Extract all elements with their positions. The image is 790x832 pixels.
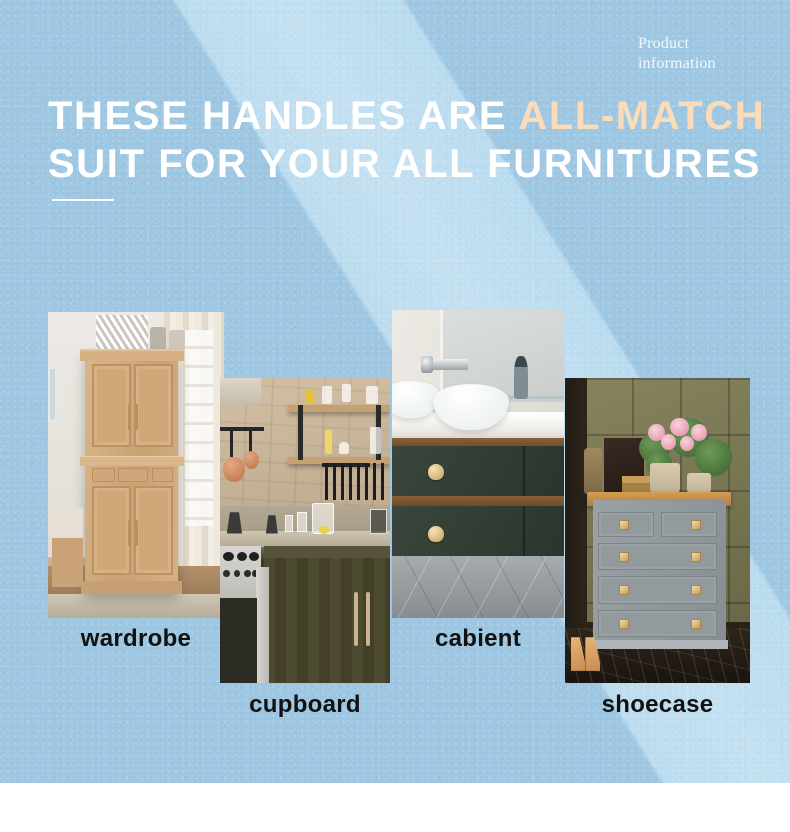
cupboard-knife-set (325, 463, 386, 500)
cupboard-jar-1 (305, 389, 314, 404)
wardrobe-scene (48, 312, 224, 618)
shoecase-rose-4 (661, 434, 676, 449)
wardrobe-door-panel-1 (92, 364, 131, 447)
eyebrow-label: Product information (638, 34, 748, 74)
product-caption-cabient: cabient (392, 625, 564, 653)
cupboard-range-hood (220, 378, 261, 405)
cabient-brass-knob-1 (428, 464, 443, 480)
wardrobe-small-panel-1 (92, 468, 115, 482)
shoecase-foliage-3 (695, 439, 732, 476)
cupboard-glass-2 (297, 512, 307, 532)
wardrobe-door-panel-2 (134, 364, 173, 447)
product-photo-shoecase (565, 378, 750, 683)
cupboard-island-front (220, 598, 257, 683)
cupboard-scene (220, 378, 390, 683)
product-photo-wardrobe (48, 312, 224, 618)
product-caption-wardrobe: wardrobe (48, 625, 224, 653)
cupboard-fridge (256, 567, 270, 683)
headline-divider-rule (52, 199, 114, 201)
cupboard-shelf-upper (288, 405, 390, 412)
headline: THESE HANDLES ARE ALL-MATCH SUIT FOR YOU… (48, 92, 748, 188)
cupboard-oil-bottle (325, 430, 332, 454)
cabient-drawer-front-1 (392, 446, 564, 498)
product-photo-cabient (392, 310, 564, 618)
wardrobe-door-panel-3 (92, 486, 131, 575)
wardrobe-decor-mirror (96, 315, 149, 352)
headline-line-1-plain: THESE HANDLES ARE (48, 94, 518, 138)
cupboard-hanging-rail (220, 427, 264, 431)
shoecase-square-knob-5 (619, 585, 629, 595)
shoecase-square-knob-2 (691, 520, 701, 530)
wardrobe-plinth (81, 581, 181, 593)
wardrobe-wall-art (48, 367, 57, 422)
headline-line-1: THESE HANDLES ARE ALL-MATCH (48, 92, 748, 140)
cupboard-jar-4 (366, 386, 378, 404)
cupboard-burner-1 (223, 552, 233, 561)
wardrobe-cabinet-cornice (80, 349, 184, 361)
product-card-shoecase: shoecase (565, 378, 750, 719)
cupboard-bar-handle-1 (354, 592, 358, 647)
wardrobe-handle-2 (135, 404, 138, 430)
cupboard-jar-3 (342, 384, 351, 402)
headline-line-2: SUIT FOR YOUR ALL FURNITURES (48, 140, 748, 188)
shoecase-plinth (591, 640, 728, 650)
shoecase-rose-2 (670, 418, 689, 436)
cupboard-glass-1 (285, 515, 294, 532)
bottom-white-strip (0, 783, 790, 832)
shoecase-square-knob-8 (691, 619, 701, 629)
cupboard-countertop (220, 531, 390, 548)
product-information-banner: Product information THESE HANDLES ARE AL… (0, 0, 790, 783)
wardrobe-stool (52, 508, 84, 588)
cabient-drawer-split-2 (523, 506, 525, 558)
cupboard-burner-3 (249, 552, 259, 561)
wardrobe-door-panel-4 (134, 486, 173, 575)
wardrobe-mid-rail (80, 456, 184, 466)
product-photo-cupboard (220, 378, 390, 683)
shoecase-square-knob-7 (619, 619, 629, 629)
shoecase-square-knob-3 (619, 552, 629, 562)
shoecase-dark-left-wall (565, 378, 587, 634)
cabient-scene (392, 310, 564, 618)
wardrobe-rug (48, 594, 224, 618)
wardrobe-handle-4 (135, 520, 138, 546)
cupboard-cabinet-fronts (264, 546, 390, 683)
shoecase-plant-pot-1 (650, 463, 680, 494)
eyebrow-line-1: Product (638, 34, 748, 54)
wardrobe-small-panel-2 (118, 468, 148, 482)
cupboard-jar-5 (370, 427, 382, 454)
shoecase-drawer-2 (661, 512, 717, 536)
cupboard-hook-1 (230, 430, 233, 457)
shoecase-square-knob-4 (691, 552, 701, 562)
cabient-brass-knob-2 (428, 526, 443, 542)
cupboard-butter-dish (339, 442, 349, 454)
cupboard-bar-handle-2 (366, 592, 370, 647)
cabient-bottle (514, 356, 528, 399)
shoecase-urn (584, 448, 603, 494)
shoecase-rose-3 (691, 424, 708, 441)
shoecase-square-knob-1 (619, 520, 629, 530)
product-card-wardrobe: wardrobe (48, 312, 224, 653)
cupboard-shelf-bracket-1 (298, 405, 303, 460)
cabient-drawer-split-1 (523, 446, 525, 498)
cabient-drawer-front-2 (392, 506, 564, 558)
cupboard-lemon (319, 526, 329, 534)
product-card-cupboard: cupboard (220, 378, 390, 719)
product-caption-cupboard: cupboard (220, 691, 390, 719)
wardrobe-handle-1 (128, 404, 131, 430)
cupboard-appliance (370, 509, 387, 533)
cupboard-stove-knob-3 (244, 570, 251, 577)
cupboard-jar-2 (322, 386, 332, 404)
shoecase-scene (565, 378, 750, 683)
cabient-tap-body (421, 356, 433, 373)
cupboard-cabinet-top-rail (264, 546, 390, 558)
headline-accent-all-match: ALL-MATCH (518, 94, 765, 138)
product-card-cabient: cabient (392, 310, 564, 653)
wardrobe-small-panel-3 (152, 468, 173, 482)
wardrobe-window (185, 330, 213, 526)
shoecase-square-knob-6 (691, 585, 701, 595)
eyebrow-line-2: information (638, 54, 748, 74)
product-caption-shoecase: shoecase (565, 691, 750, 719)
cabient-stone-floor (392, 556, 564, 618)
wardrobe-handle-3 (128, 520, 131, 546)
